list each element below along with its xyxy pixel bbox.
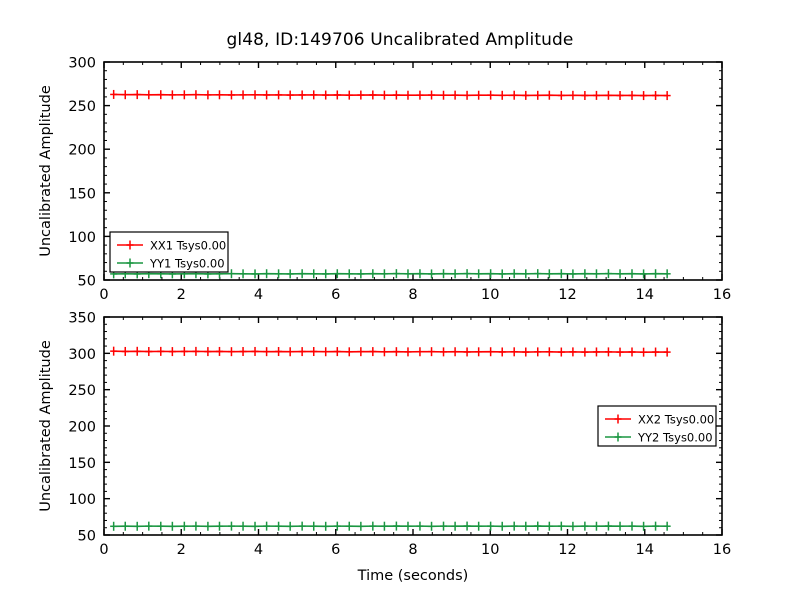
y-tick-label: 350: [68, 311, 96, 327]
x-tick-label: 12: [558, 287, 576, 303]
x-tick-label: 14: [636, 542, 654, 558]
x-tick-label: 10: [481, 287, 499, 303]
x-tick-label: 4: [254, 542, 263, 558]
y-tick-label: 200: [68, 143, 96, 159]
y-tick-label: 300: [68, 56, 96, 72]
x-tick-label: 6: [331, 542, 340, 558]
legend-label: YY1 Tsys0.00: [149, 257, 225, 271]
x-tick-label: 6: [331, 287, 340, 303]
y-tick-label: 50: [78, 529, 96, 545]
x-tick-label: 8: [408, 287, 417, 303]
y-tick-label: 250: [68, 383, 96, 399]
y-tick-label: 50: [78, 274, 96, 290]
plot-area: 024681012141650100150200250300XX1 Tsys0.…: [0, 0, 800, 600]
y-tick-label: 150: [68, 186, 96, 202]
x-tick-label: 0: [99, 287, 108, 303]
x-tick-label: 14: [636, 287, 654, 303]
legend-bottom[interactable]: XX2 Tsys0.00YY2 Tsys0.00: [598, 406, 716, 446]
y-tick-label: 200: [68, 420, 96, 436]
x-tick-label: 2: [177, 287, 186, 303]
y-tick-label: 150: [68, 456, 96, 472]
legend-label: YY2 Tsys0.00: [637, 431, 713, 445]
x-tick-label: 0: [99, 542, 108, 558]
x-tick-label: 10: [481, 542, 499, 558]
figure-canvas: gl48, ID:149706 Uncalibrated Amplitude U…: [0, 0, 800, 600]
x-tick-label: 4: [254, 287, 263, 303]
x-tick-label: 2: [177, 542, 186, 558]
legend-top[interactable]: XX1 Tsys0.00YY1 Tsys0.00: [110, 232, 228, 272]
x-tick-label: 12: [558, 542, 576, 558]
y-tick-label: 250: [68, 99, 96, 115]
y-tick-label: 100: [68, 492, 96, 508]
x-tick-label: 16: [713, 542, 731, 558]
x-tick-label: 16: [713, 287, 731, 303]
legend-label: XX2 Tsys0.00: [638, 413, 714, 427]
legend-label: XX1 Tsys0.00: [150, 239, 226, 253]
x-tick-label: 8: [408, 542, 417, 558]
y-tick-label: 300: [68, 347, 96, 363]
y-tick-label: 100: [68, 230, 96, 246]
